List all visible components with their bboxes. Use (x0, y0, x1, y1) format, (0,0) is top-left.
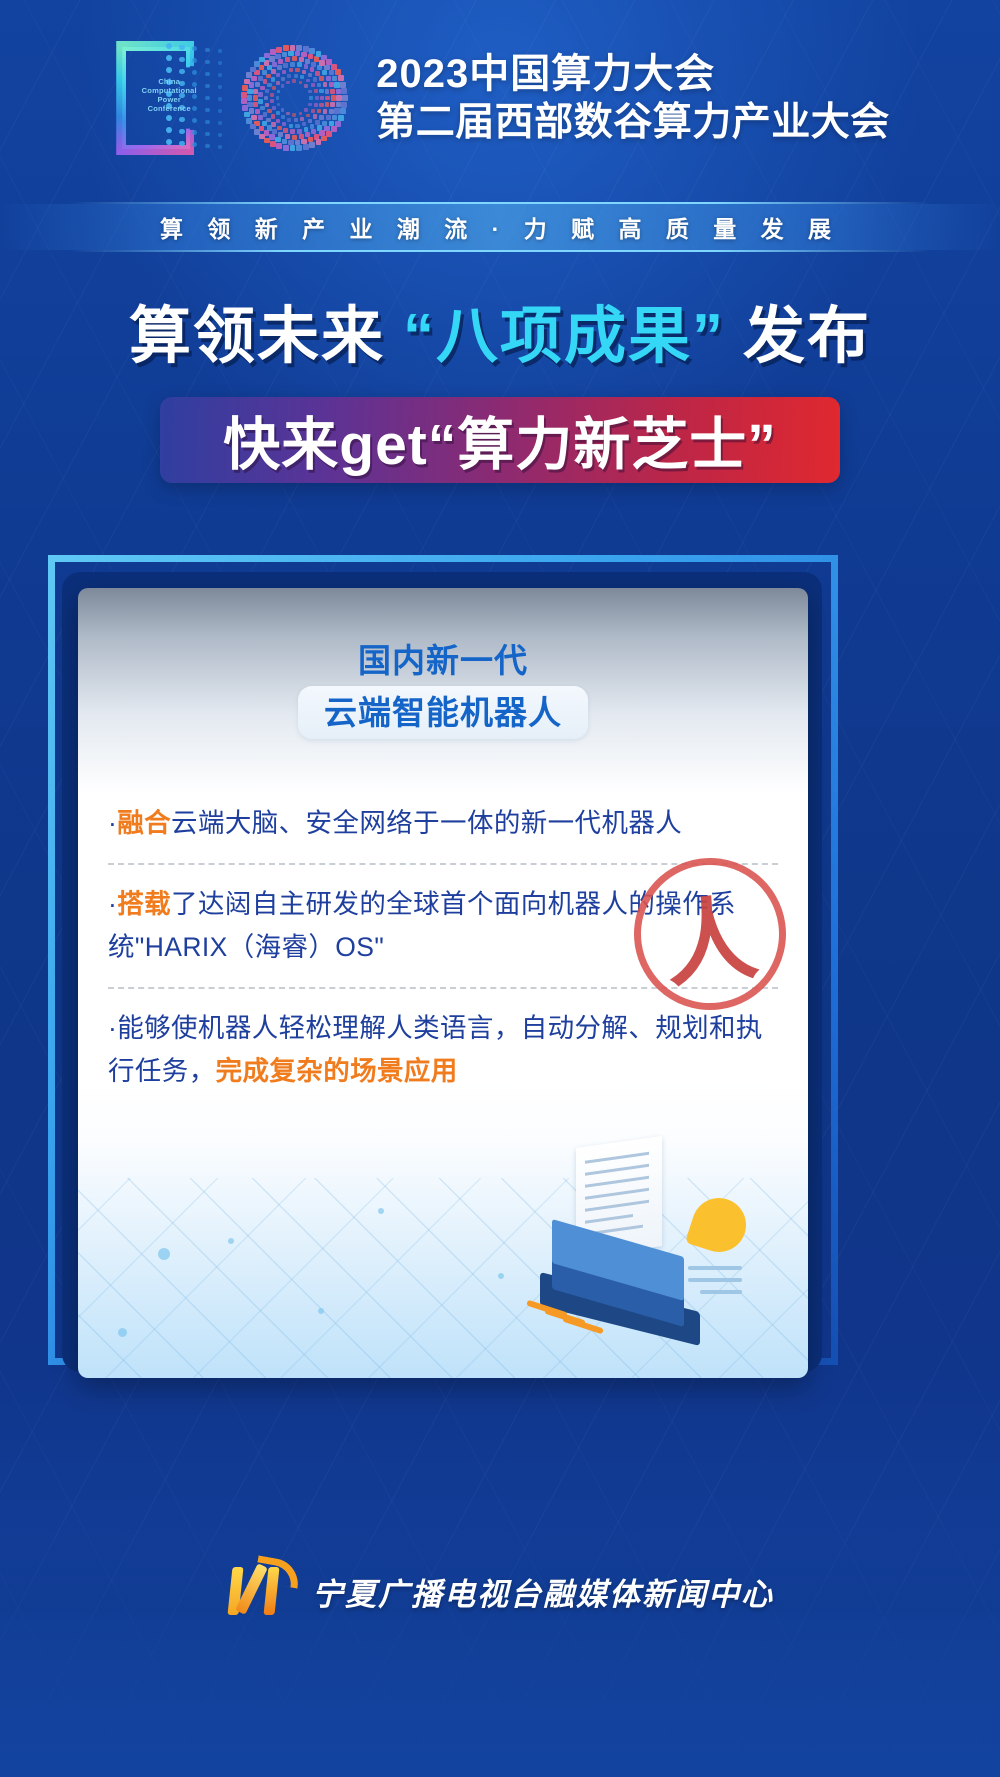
list-item: ·能够使机器人轻松理解人类语言，自动分解、规划和执行任务，完成复杂的场景应用 (78, 989, 808, 1111)
header: China Computational Power Conference 202… (0, 0, 1000, 196)
footer-text: 宁夏广播电视台融媒体新闻中心 (312, 1569, 774, 1614)
header-title-line2: 第二届西部数谷算力产业大会 (376, 99, 890, 147)
header-titles: 2023中国算力大会 第二届西部数谷算力产业大会 (376, 50, 890, 146)
header-title-line1: 2023中国算力大会 (376, 50, 890, 99)
footer: 宁夏广播电视台融媒体新闻中心 (0, 1517, 1000, 1777)
headline-banner-text: 快来get“算力新芝士” (223, 399, 777, 481)
server-illustration-icon (518, 1142, 738, 1342)
headline-prefix: 算领未来 (129, 285, 385, 375)
bullet-tail-emphasis: 完成复杂的场景应用 (216, 1056, 458, 1086)
bullet-dot: · (108, 889, 117, 919)
content-card: 国内新一代 云端智能机器人 ·融合云端大脑、安全网络于一体的新一代机器人 ·搭载… (78, 588, 808, 1378)
card-title-line1: 国内新一代 (243, 636, 643, 686)
headline-highlight: “八项成果” (403, 285, 725, 375)
bullet-dot: · (108, 808, 117, 838)
headline-banner: 快来get“算力新芝士” (160, 397, 840, 483)
slogan-text: 算 领 新 产 业 潮 流 · 力 赋 高 质 量 发 展 (0, 196, 1000, 258)
headline-row1: 算领未来 “八项成果” 发布 (0, 285, 1000, 375)
conference-logo: China Computational Power Conference (110, 37, 352, 159)
logo-text: China Computational Power Conference (136, 77, 202, 113)
headline-suffix: 发布 (743, 285, 871, 375)
bullet-emphasis: 搭载 (117, 889, 171, 919)
hexagon-c-logo-icon: China Computational Power Conference (110, 37, 230, 159)
list-item: ·融合云端大脑、安全网络于一体的新一代机器人 (78, 784, 808, 863)
card-title: 国内新一代 云端智能机器人 (243, 636, 643, 739)
bullet-list: ·融合云端大脑、安全网络于一体的新一代机器人 ·搭载了达闼自主研发的全球首个面向… (78, 784, 808, 1111)
bullet-emphasis: 融合 (117, 808, 171, 838)
bullet-text: 云端大脑、安全网络于一体的新一代机器人 (171, 808, 682, 838)
headline: 算领未来 “八项成果” 发布 快来get“算力新芝士” (0, 285, 1000, 483)
radial-fan-logo-icon (236, 39, 352, 157)
bullet-text: 了达闼自主研发的全球首个面向机器人的操作系统"HARIX（海睿）OS" (108, 889, 736, 962)
broadcaster-n-logo-icon (226, 1561, 296, 1621)
bullet-dot: · (108, 1013, 117, 1043)
card-title-line2: 云端智能机器人 (298, 686, 588, 740)
slogan-strip: 算 领 新 产 业 潮 流 · 力 赋 高 质 量 发 展 (0, 196, 1000, 258)
list-item: ·搭载了达闼自主研发的全球首个面向机器人的操作系统"HARIX（海睿）OS" (78, 865, 808, 987)
